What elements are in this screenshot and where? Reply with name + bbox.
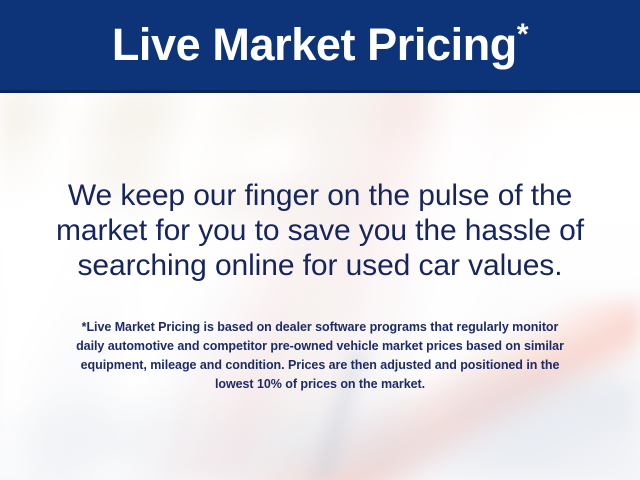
- headline-line: market for you to save you the hassle of: [0, 213, 640, 248]
- disclaimer-line: lowest 10% of prices on the market.: [0, 375, 640, 394]
- page-title: Live Market Pricing*: [112, 22, 528, 69]
- live-market-pricing-banner: Live Market Pricing* We keep our finger …: [0, 0, 640, 480]
- disclaimer-line: *Live Market Pricing is based on dealer …: [0, 318, 640, 337]
- headline-line: searching online for used car values.: [0, 248, 640, 283]
- page-title-text: Live Market Pricing: [112, 19, 517, 70]
- disclaimer-line: daily automotive and competitor pre-owne…: [0, 337, 640, 356]
- headline-text: We keep our finger on the pulse of the m…: [0, 178, 640, 283]
- disclaimer-line: equipment, mileage and condition. Prices…: [0, 356, 640, 375]
- disclaimer-text: *Live Market Pricing is based on dealer …: [0, 318, 640, 394]
- headline-line: We keep our finger on the pulse of the: [0, 178, 640, 213]
- header-bar: Live Market Pricing*: [0, 0, 640, 93]
- page-title-asterisk: *: [517, 18, 528, 51]
